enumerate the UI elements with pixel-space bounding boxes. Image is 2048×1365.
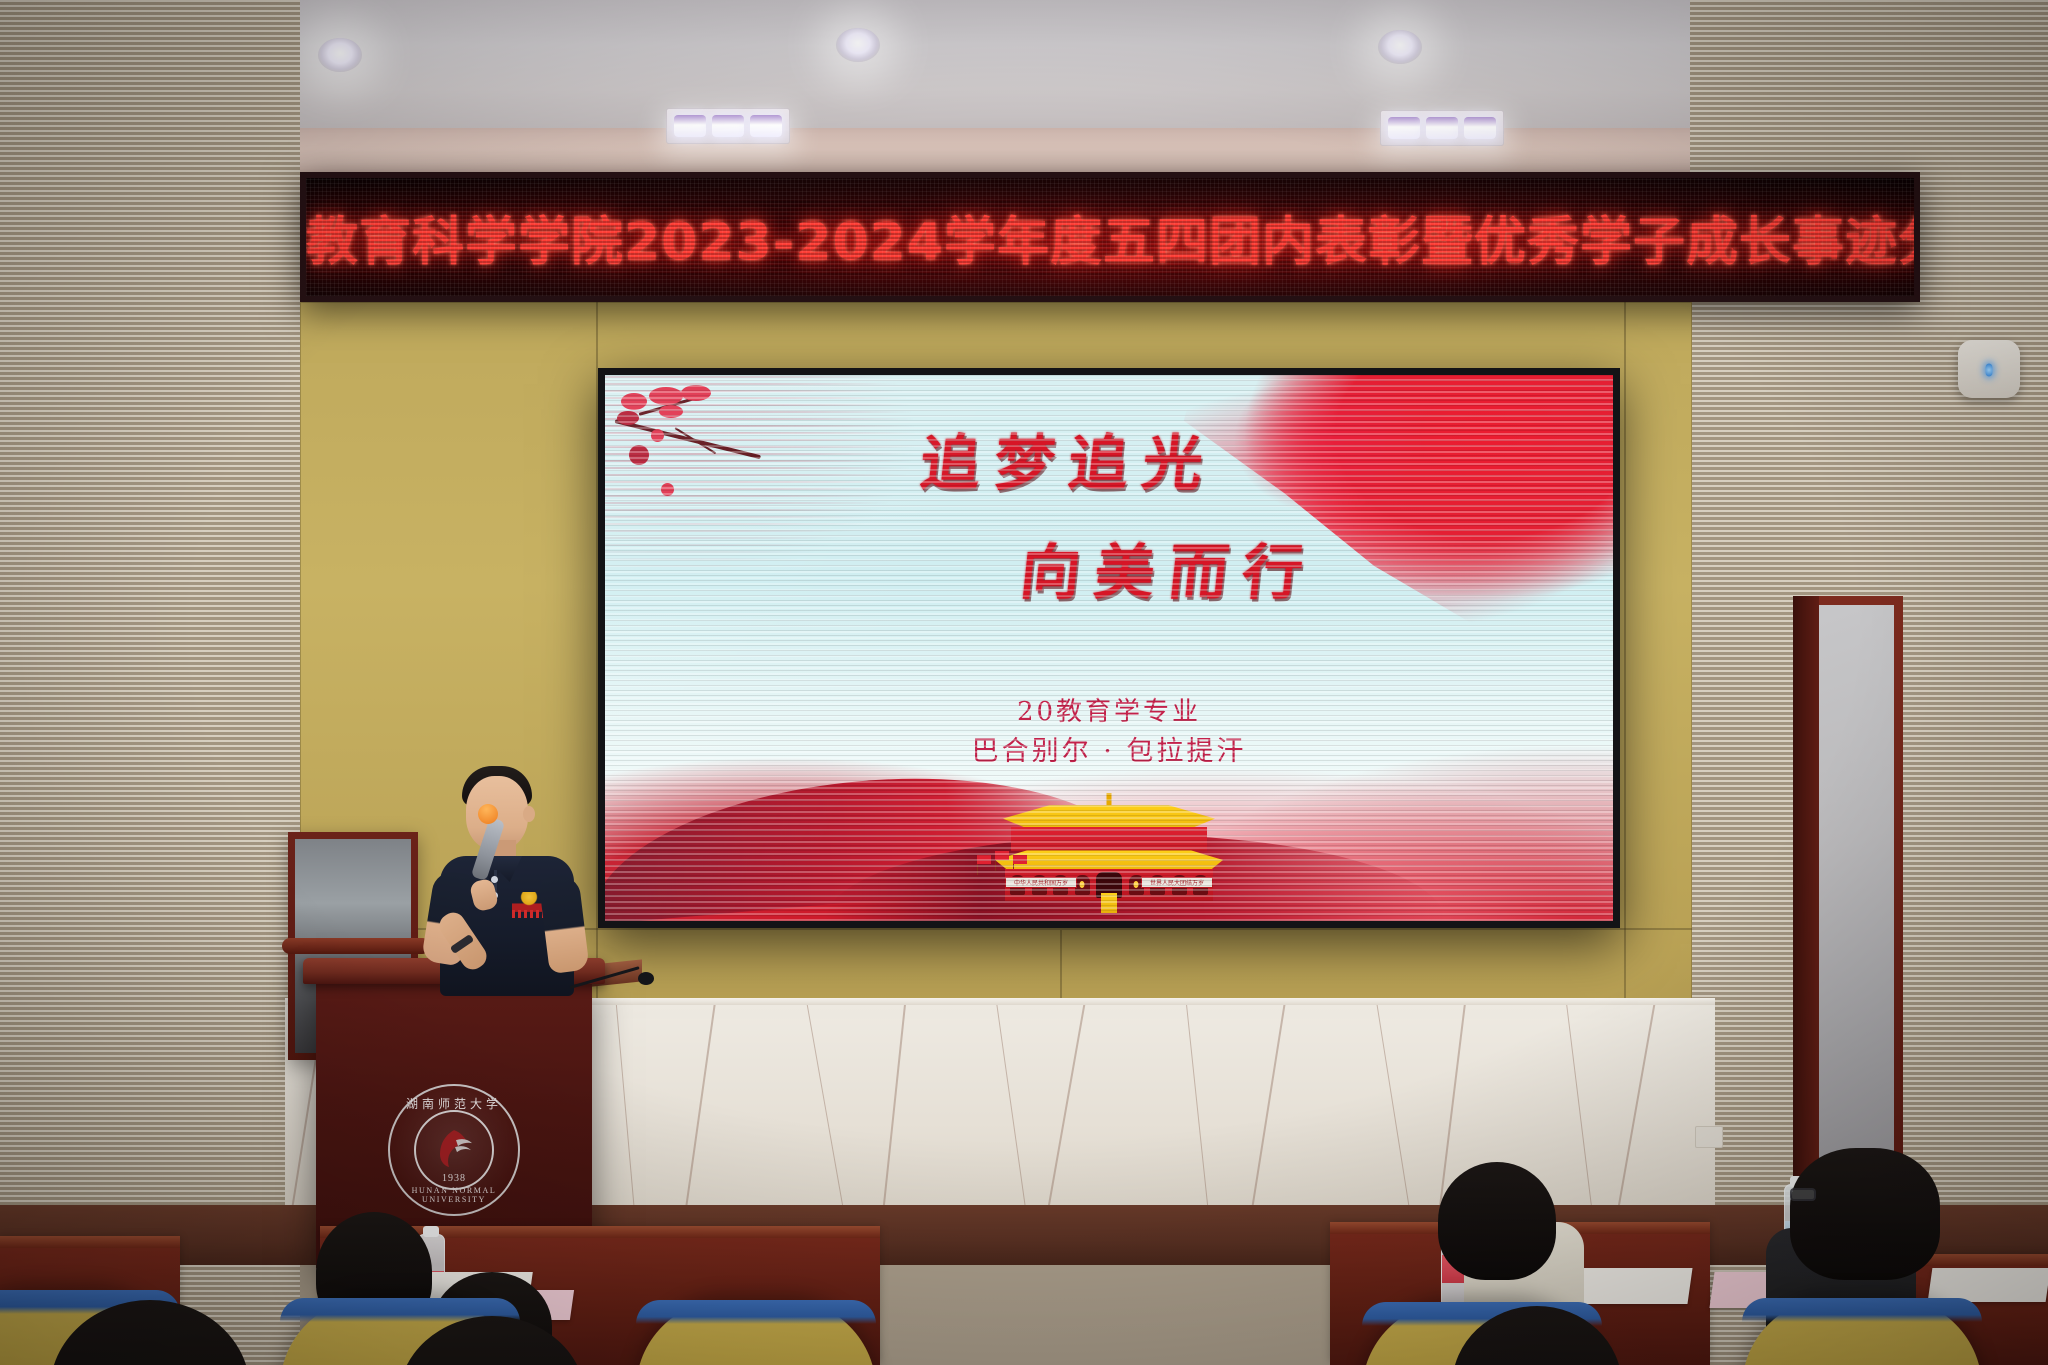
emblem-bird-icon — [431, 1126, 477, 1172]
ceiling-triple-lamp-icon — [666, 108, 790, 144]
eyeglasses-icon — [1790, 1188, 1816, 1201]
audience-head — [1438, 1162, 1556, 1280]
handout-paper — [1567, 1268, 1692, 1304]
speaker-ear — [523, 806, 535, 822]
audience-desk-top — [0, 1236, 180, 1248]
lamp-cell — [1464, 117, 1496, 139]
plum-blossom-branch-icon — [615, 383, 915, 573]
downlight-icon — [318, 38, 362, 72]
tiananmen-banner-right: 世界人民大团结万岁 — [1141, 877, 1213, 888]
university-emblem: 湖南师范大学 1938 HUNAN NORMAL UNIVERSITY — [388, 1084, 520, 1216]
panel-seam — [1624, 302, 1626, 1012]
ribbed-wall-panel-left — [0, 0, 300, 1365]
tiananmen-spire — [1107, 793, 1112, 807]
led-banner: 教育科学学院2023-2024学年度五四团内表彰暨优秀学子成长事迹分享会 — [300, 172, 1920, 302]
status-led — [1986, 364, 1993, 377]
stage-base-trim — [0, 1205, 2048, 1265]
audience-chair — [1742, 1298, 1982, 1365]
handout-paper — [1928, 1268, 2048, 1302]
door-jamb-shadow — [1793, 596, 1819, 1216]
downlight-icon — [1378, 30, 1422, 64]
slide-subtitle-major: 20教育学专业 — [605, 693, 1613, 732]
gooseneck-arm — [570, 966, 640, 989]
tiananmen-plinth — [1101, 893, 1117, 913]
speaker-person — [420, 760, 620, 990]
lamp-cell — [674, 115, 706, 137]
tiananmen-upper-roof — [1003, 803, 1215, 829]
wifi-access-point-icon — [1958, 340, 2020, 398]
gooseneck-capsule — [638, 972, 654, 985]
ceiling-triple-lamp-icon — [1380, 110, 1504, 146]
speaker-shirt-emblem-detail — [512, 910, 546, 918]
lamp-cell — [1426, 117, 1458, 139]
audience-head — [1790, 1148, 1940, 1280]
tiananmen-upper-body — [1011, 827, 1207, 851]
presentation-screen: 追梦追光 向美而行 20教育学专业 巴合别尔 · 包拉提汗 — [598, 368, 1620, 928]
lamp-cell — [712, 115, 744, 137]
lamp-cell — [1388, 117, 1420, 139]
slide-canvas: 追梦追光 向美而行 20教育学专业 巴合别尔 · 包拉提汗 — [605, 375, 1613, 921]
lamp-cell — [750, 115, 782, 137]
wall-power-socket-icon — [1695, 1126, 1723, 1148]
red-ink-blot — [1233, 368, 1423, 515]
tiananmen-gate-icon: 中华人民共和国万岁 世界人民大团结万岁 — [989, 793, 1229, 913]
led-pixel-grid — [306, 178, 1914, 296]
conference-photo-scene: 教育科学学院2023-2024学年度五四团内表彰暨优秀学子成长事迹分享会 — [0, 0, 2048, 1365]
emblem-english-name: HUNAN NORMAL UNIVERSITY — [390, 1186, 518, 1204]
tiananmen-banner-left: 中华人民共和国万岁 — [1005, 877, 1077, 888]
gooseneck-microphone — [570, 956, 662, 1002]
window-rail — [282, 938, 430, 954]
emblem-founding-year: 1938 — [390, 1173, 518, 1184]
audience-chair — [636, 1300, 876, 1365]
downlight-icon — [836, 28, 880, 62]
